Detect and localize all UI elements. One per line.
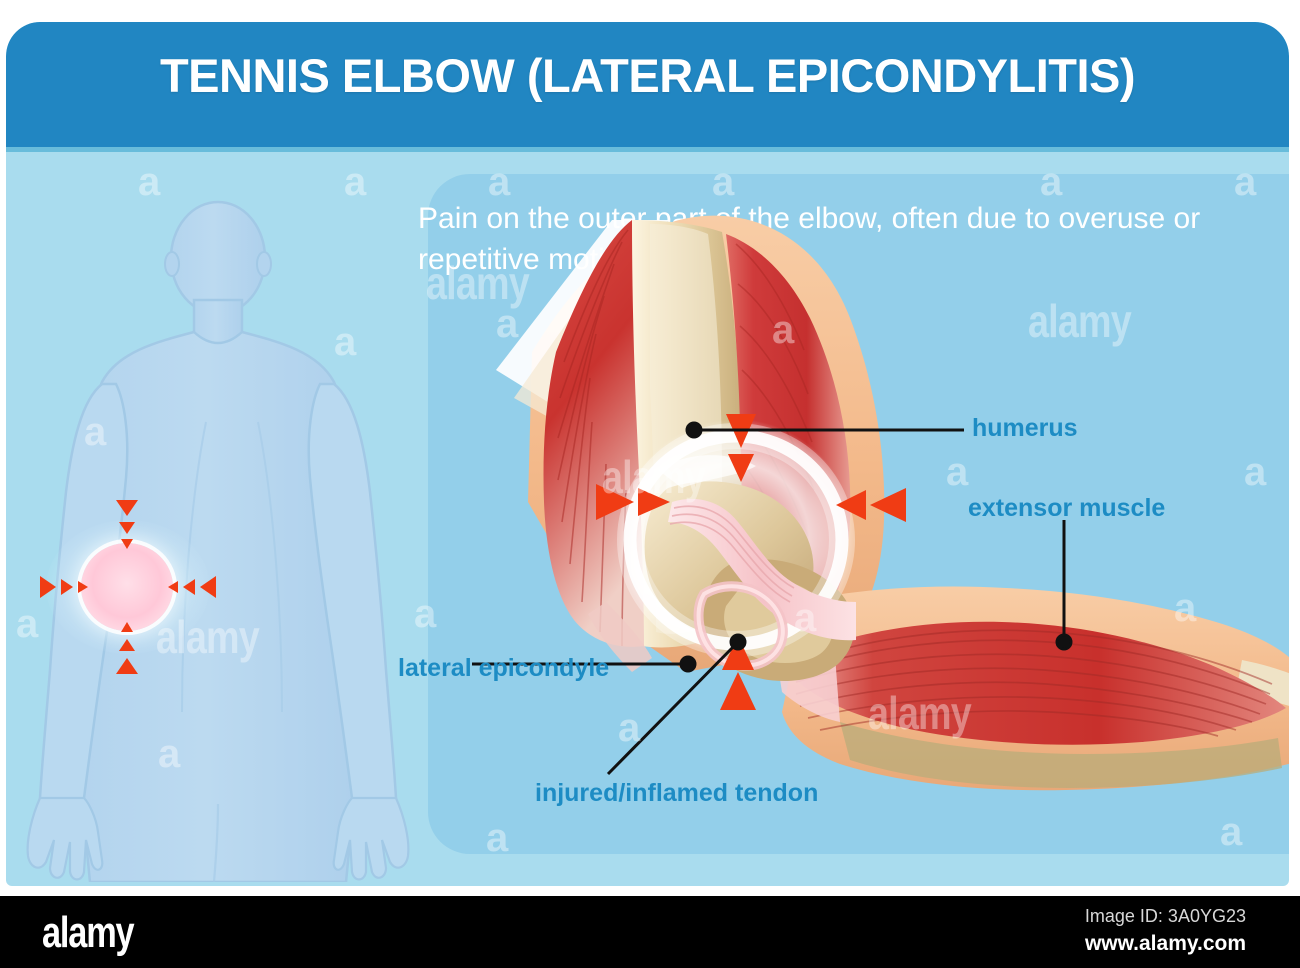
pain-arrow-bottom-3 [121, 622, 133, 632]
leader-dot-extensor [1057, 635, 1071, 649]
pain-arrow-bottom-1 [116, 658, 138, 674]
pain-arrow-top-3 [121, 539, 133, 549]
pain-arrow-top-2 [119, 522, 135, 534]
pain-arrow-bottom-2 [119, 639, 135, 651]
header-underline [6, 147, 1289, 152]
label-lateral-epicondyle: lateral epicondyle [398, 654, 609, 683]
joint-arrow-bottom-2 [720, 672, 756, 710]
pain-arrow-right-3 [168, 581, 178, 593]
pain-core-glow [81, 543, 173, 631]
pain-indicator [38, 498, 218, 678]
alamy-logo: alamy [42, 908, 133, 958]
pain-arrow-right-1 [200, 576, 216, 598]
pain-arrow-right-2 [183, 579, 195, 595]
leader-dot-tendon [731, 635, 745, 649]
alamy-url: www.alamy.com [1085, 932, 1246, 956]
pain-arrow-top-1 [116, 500, 138, 516]
label-extensor-muscle: extensor muscle [968, 494, 1165, 523]
image-id-text: Image ID: 3A0YG23 [1085, 906, 1246, 927]
elbow-anatomy-svg [436, 202, 1289, 862]
infographic-canvas: TENNIS ELBOW (LATERAL EPICONDYLITIS) Pai… [6, 22, 1289, 886]
pain-arrow-left-1 [40, 576, 56, 598]
page-title: TENNIS ELBOW (LATERAL EPICONDYLITIS) [6, 48, 1289, 103]
alamy-footer-bar: alamy Image ID: 3A0YG23 www.alamy.com [0, 896, 1300, 968]
leader-dot-epicondyle [681, 657, 695, 671]
pain-arrow-left-2 [61, 579, 73, 595]
leader-dot-humerus [687, 423, 701, 437]
pain-arrow-left-3 [78, 581, 88, 593]
elbow-anatomy-illustration [436, 202, 1289, 862]
infographic-root: TENNIS ELBOW (LATERAL EPICONDYLITIS) Pai… [0, 0, 1300, 968]
label-injured-tendon: injured/inflamed tendon [535, 779, 818, 808]
label-humerus: humerus [972, 414, 1078, 443]
